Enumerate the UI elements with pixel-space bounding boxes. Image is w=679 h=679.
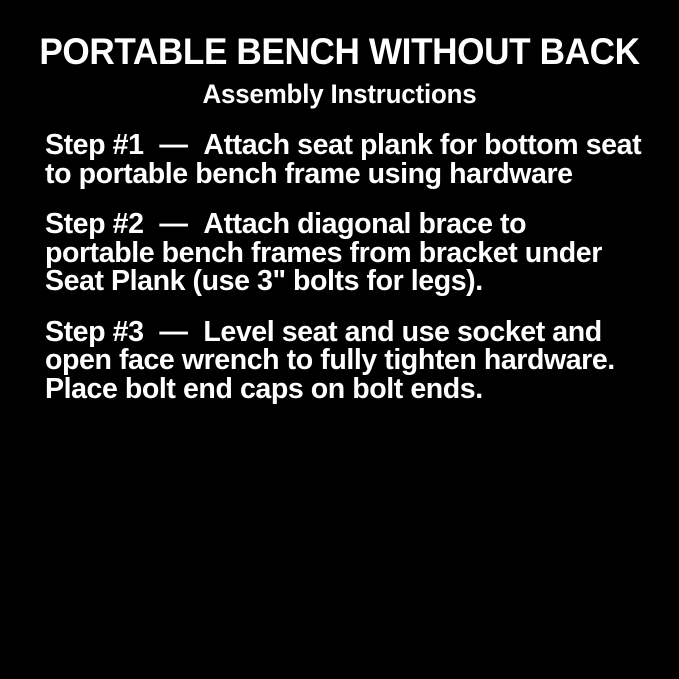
step-3-label: Step #3: [45, 316, 144, 348]
step-3-line-1: Step #3 — Level seat and use socket and: [45, 318, 646, 347]
step-3-dash: —: [159, 316, 187, 348]
page-title: PORTABLE BENCH WITHOUT BACK: [17, 33, 662, 72]
steps-list: Step #1 — Attach seat plank for bottom s…: [45, 131, 655, 403]
step-2-label: Step #2: [45, 208, 144, 240]
step-2-dash: —: [159, 208, 187, 240]
step-1-line-1: Step #1 — Attach seat plank for bottom s…: [45, 131, 646, 160]
step-3-text-1: Level seat and use socket and: [203, 316, 601, 348]
page-subtitle: Assembly Instructions: [14, 80, 666, 110]
step-2-text-2: portable bench frames from bracket under: [45, 239, 646, 268]
step-2-text-1: Attach diagonal brace to: [203, 208, 526, 240]
step-3: Step #3 — Level seat and use socket and …: [45, 318, 646, 404]
step-1-dash: —: [159, 129, 187, 161]
step-1-text-2: to portable bench frame using hardware: [45, 160, 646, 189]
step-3-text-2: open face wrench to fully tighten hardwa…: [45, 346, 646, 375]
step-2-text-3: Seat Plank (use 3" bolts for legs).: [45, 267, 646, 296]
assembly-instructions-poster: PORTABLE BENCH WITHOUT BACK Assembly Ins…: [0, 0, 679, 679]
step-1: Step #1 — Attach seat plank for bottom s…: [45, 131, 646, 188]
step-2-line-1: Step #2 — Attach diagonal brace to: [45, 210, 646, 239]
step-1-label: Step #1: [45, 129, 144, 161]
step-1-text-1: Attach seat plank for bottom seat: [203, 129, 641, 161]
step-3-text-3: Place bolt end caps on bolt ends.: [45, 375, 646, 404]
step-2: Step #2 — Attach diagonal brace to porta…: [45, 210, 646, 296]
